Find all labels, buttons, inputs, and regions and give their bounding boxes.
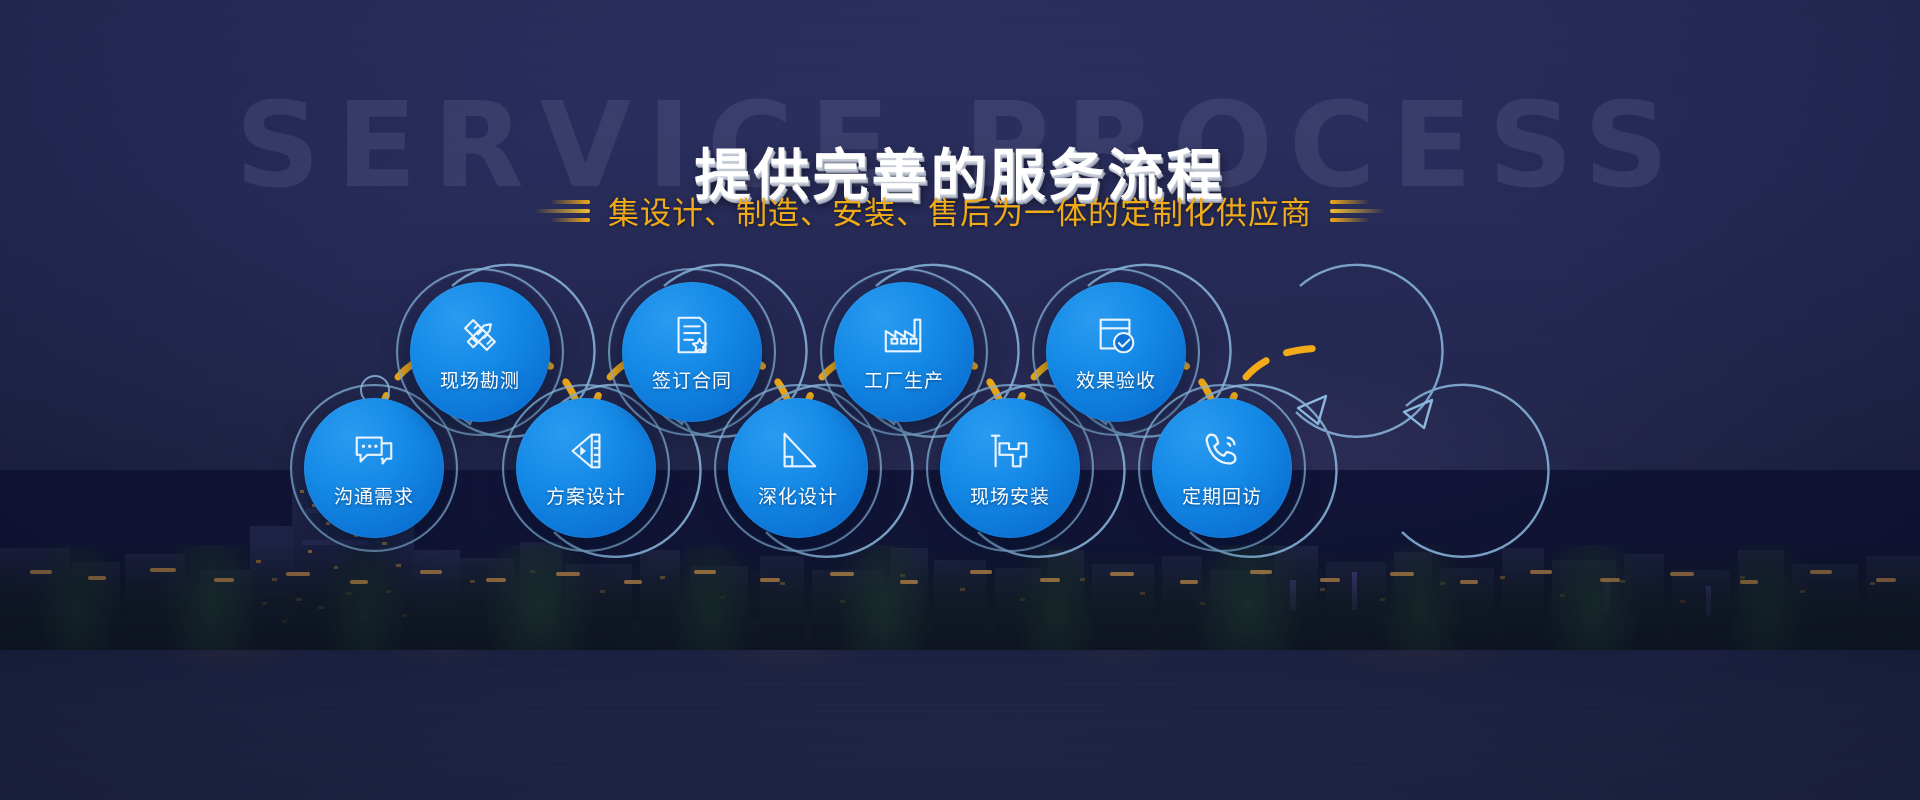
page-subtitle: 集设计、制造、安装、售后为一体的定制化供应商 (608, 188, 1312, 233)
step-label-5: 深化设计 (758, 482, 838, 509)
chat-bubble-icon (351, 428, 397, 474)
factory-icon (881, 312, 927, 358)
gold-bars-right-icon (1330, 200, 1386, 222)
phone-call-icon (1199, 428, 1245, 474)
power-drill-icon (987, 428, 1033, 474)
pencil-ruler-icon (457, 312, 503, 358)
step-label-3: 方案设计 (546, 482, 626, 509)
contract-seal-icon (669, 312, 715, 358)
step-label-7: 现场安装 (970, 482, 1050, 509)
step-label-1: 沟通需求 (334, 482, 414, 509)
banner-stage: SERVICE PROCESS 提供完善的服务流程 集设计、制造、安装、售后为一… (0, 0, 1920, 800)
set-square-icon (775, 428, 821, 474)
step-node-9[interactable]: 定期回访 (1138, 384, 1306, 552)
step-disc-9: 定期回访 (1152, 398, 1292, 538)
gold-bars-left-icon (534, 200, 590, 222)
step-label-9: 定期回访 (1182, 482, 1262, 509)
ruler-scale-icon (563, 428, 609, 474)
document-check-icon (1093, 312, 1139, 358)
subtitle-row: 集设计、制造、安装、售后为一体的定制化供应商 (0, 188, 1920, 233)
